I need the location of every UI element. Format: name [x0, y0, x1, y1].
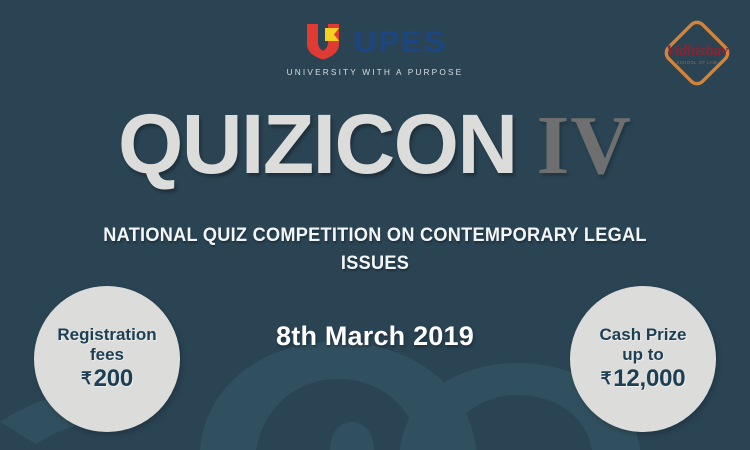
registration-fees-line1: Registration [57, 325, 156, 345]
svg-text:SCHOOL OF LAW: SCHOOL OF LAW [676, 60, 717, 65]
title-edition-numeral: IV [537, 99, 632, 192]
vidhishav-diamond-badge: Vidhishav SCHOOL OF LAW [658, 14, 736, 92]
registration-fees-amount: ₹200 [57, 365, 156, 393]
title-main-text: QUIZICON [118, 97, 517, 191]
cash-prize-amount: ₹12,000 [600, 365, 687, 393]
cash-prize-line2: up to [600, 345, 687, 365]
poster-header: UPES UNIVERSITY WITH A PURPOSE Vidhishav… [0, 0, 750, 95]
registration-fees-badge: Registration fees ₹200 [34, 286, 180, 432]
poster-subtitle: NATIONAL QUIZ COMPETITION ON CONTEMPORAR… [73, 222, 678, 277]
registration-fees-value: 200 [94, 365, 133, 392]
upes-logo-lockup: UPES UNIVERSITY WITH A PURPOSE [245, 22, 505, 77]
rupee-symbol-icon: ₹ [601, 369, 612, 388]
upes-tagline: UNIVERSITY WITH A PURPOSE [245, 67, 505, 77]
cash-prize-badge: Cash Prize up to ₹12,000 [570, 286, 716, 432]
upes-shield-logo-icon [303, 22, 343, 60]
event-poster: UPES UNIVERSITY WITH A PURPOSE Vidhishav… [0, 0, 750, 450]
poster-title: QUIZICONIV [0, 96, 750, 194]
upes-wordmark: UPES [354, 26, 446, 57]
rupee-symbol-icon: ₹ [81, 369, 92, 388]
registration-fees-line2: fees [57, 345, 156, 365]
cash-prize-value: 12,000 [613, 365, 685, 392]
cash-prize-line1: Cash Prize [600, 325, 687, 345]
svg-text:Vidhishav: Vidhishav [666, 43, 728, 59]
